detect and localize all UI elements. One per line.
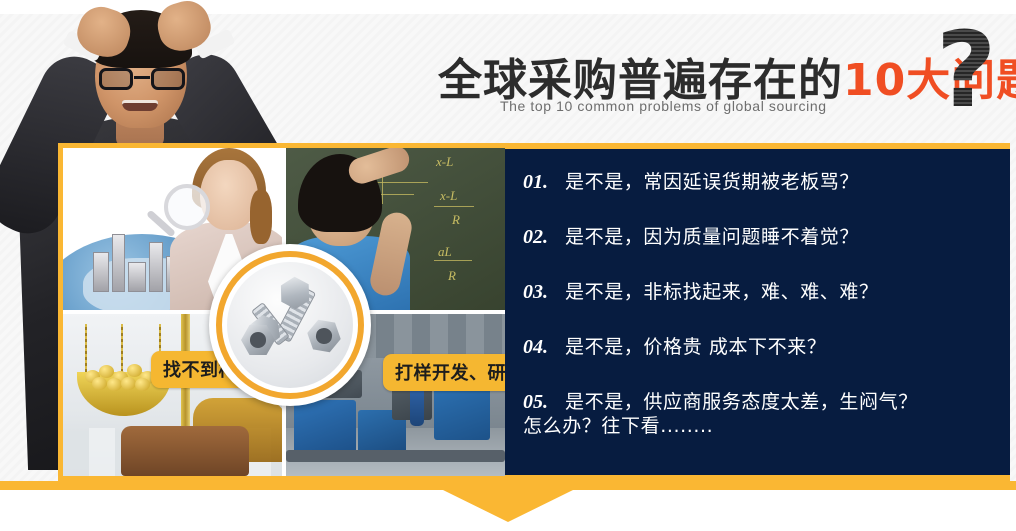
list-item-text: 是不是，非标找起来，难、难、难？: [565, 277, 879, 304]
bolts-circular-badge: [209, 244, 371, 406]
panel-footer-text: 怎么办？往下看........: [523, 411, 713, 438]
glasses-icon: [98, 68, 186, 90]
factory-worker: [410, 386, 424, 426]
student-raised-arm: [346, 148, 413, 187]
title-block: 全球采购普遍存在的10大问题 The top 10 common problem…: [430, 40, 1016, 140]
collage-label-no-rnd: 打样开发、研发无实力: [383, 354, 510, 391]
question-mark-icon: ?: [936, 18, 996, 122]
list-item-number: 04.: [523, 336, 565, 359]
factory-conveyor: [286, 450, 505, 462]
bottom-yellow-bar: [0, 481, 1016, 490]
badge-orange-ring: [216, 251, 364, 399]
magnifier-icon: [164, 184, 210, 230]
list-item-text: 是不是，因为质量问题睡不着觉？: [565, 222, 859, 249]
question-mark-wrapper: ?: [936, 18, 1016, 136]
banner-stage: 全球采购普遍存在的10大问题 The top 10 common problem…: [0, 0, 1016, 531]
list-item: 02. 是不是，因为质量问题睡不着觉？: [523, 222, 998, 270]
list-item-text: 是不是，供应商服务态度太差，生闷气？: [565, 387, 918, 414]
list-item-number: 02.: [523, 226, 565, 249]
list-item: 03. 是不是，非标找起来，难、难、难？: [523, 277, 998, 325]
problems-list-panel: 01. 是不是，常因延误货期被老板骂？ 02. 是不是，因为质量问题睡不着觉？ …: [505, 143, 1010, 481]
problems-list: 01. 是不是，常因延误货期被老板骂？ 02. 是不是，因为质量问题睡不着觉？ …: [523, 167, 998, 442]
hex-nut-right: [304, 317, 343, 354]
woman-ponytail: [250, 190, 272, 244]
scroll-down-chevron-icon: [443, 490, 573, 522]
badge-photo-bolts: [227, 262, 353, 388]
list-item-text: 是不是，常因延误货期被老板骂？: [565, 167, 859, 194]
list-item-number: 03.: [523, 281, 565, 304]
page-subtitle: The top 10 common problems of global sou…: [500, 98, 827, 114]
list-item: 04. 是不是，价格贵 成本下不来？: [523, 332, 998, 380]
list-item-number: 01.: [523, 171, 565, 194]
list-item: 01. 是不是，常因延误货期被老板骂？: [523, 167, 998, 215]
wooden-base: [121, 426, 249, 476]
businessman-mouth: [122, 100, 158, 111]
list-item-text: 是不是，价格贵 成本下不来？: [565, 332, 826, 359]
